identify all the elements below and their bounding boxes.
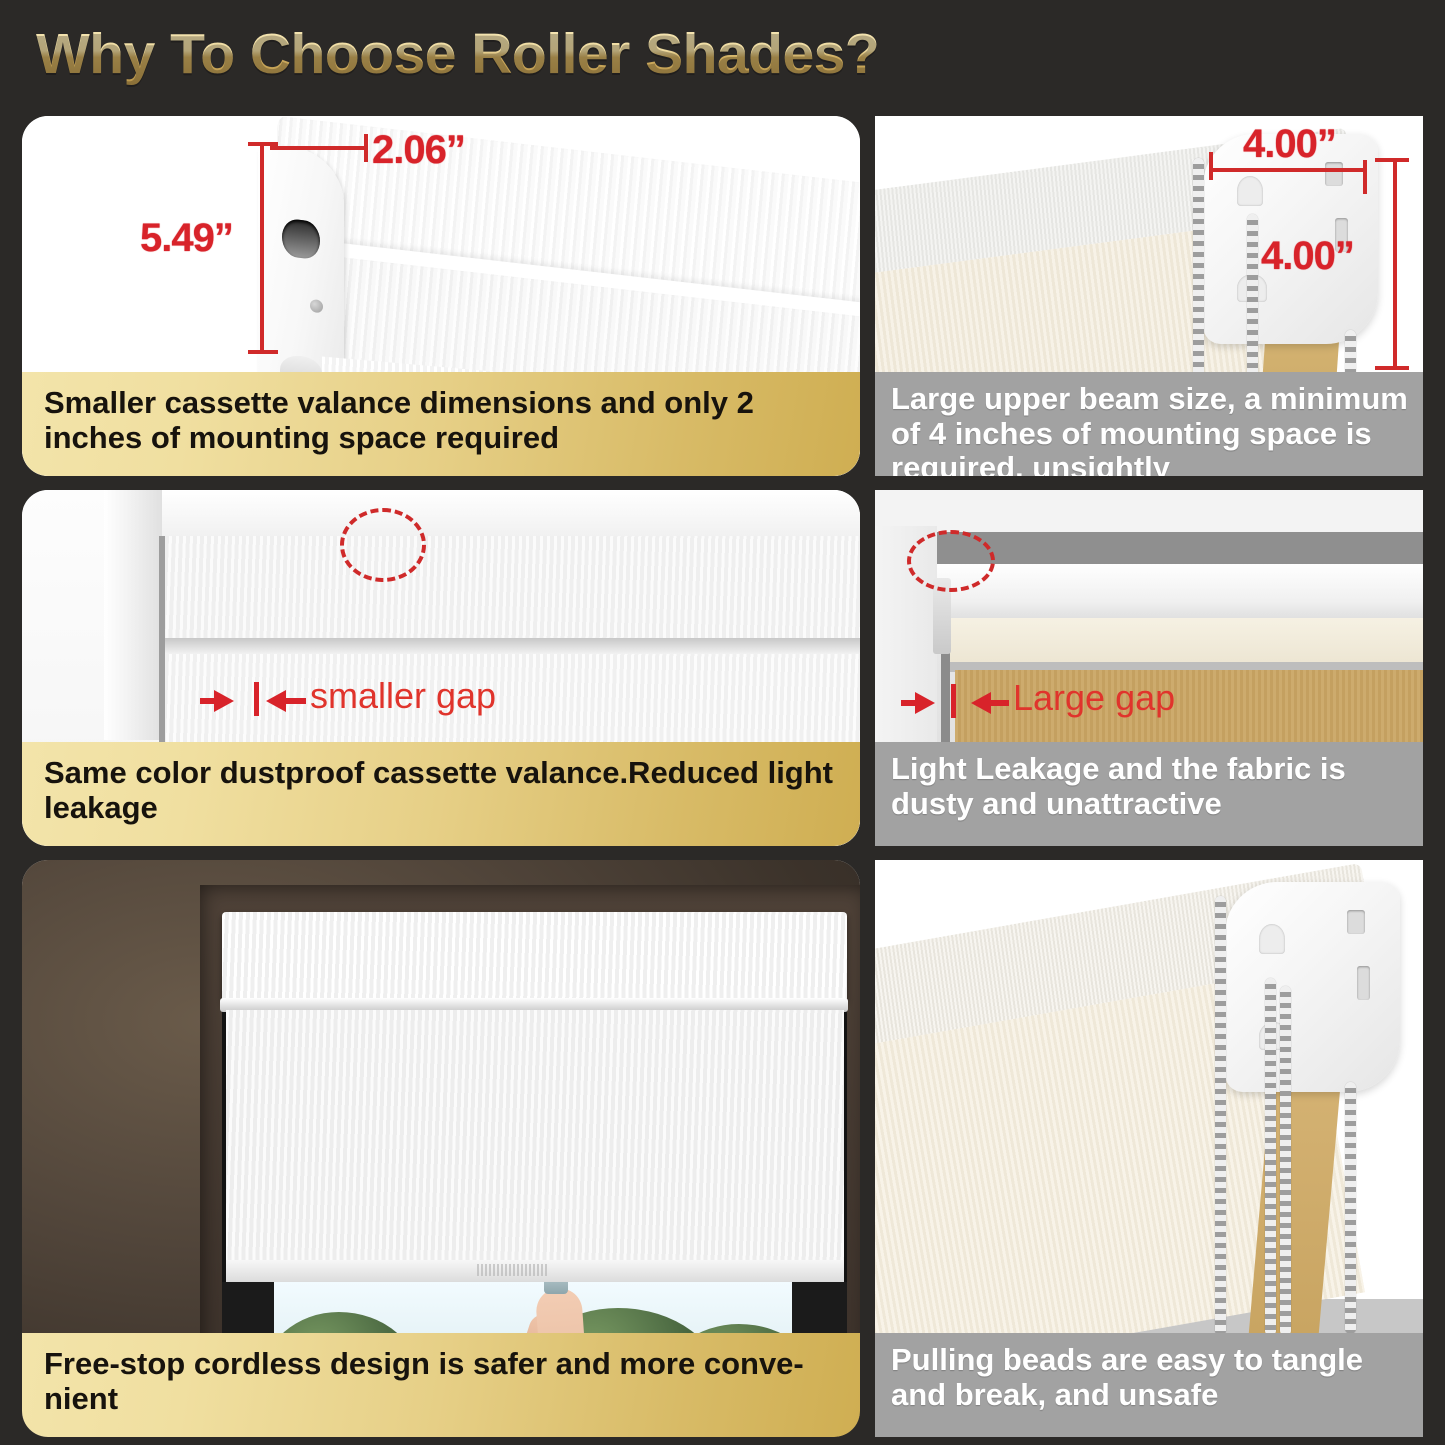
height-dimension-line [260, 142, 264, 354]
roller-bracket-graphic [1225, 882, 1400, 1092]
gap-tick [951, 684, 956, 718]
width-dimension-tick-right [364, 134, 368, 162]
panel-top-right-caption: Large upper beam size, a minimum of 4 in… [875, 372, 1423, 476]
header-bar: Why To Choose Roller Shades? [0, 0, 1445, 108]
gap-arrow-left-icon [266, 690, 286, 712]
height-dimension-label: 5.49” [140, 216, 233, 261]
bead-chain-1 [1215, 896, 1226, 1336]
panel-middle-left: smaller gap Same color dustproof cassett… [22, 490, 860, 846]
gap-arrow-left-icon [971, 692, 991, 714]
panel-middle-left-caption: Same color dustproof cassette valance.Re… [22, 742, 860, 846]
roller-fabric-graphic [226, 1010, 844, 1272]
bead-chain-4 [1345, 1082, 1356, 1334]
comparison-grid: 5.49” 2.06” Smaller cassette valance dim… [0, 108, 1445, 1445]
panel-middle-right: Large gap Light Leakage and the fabric i… [875, 490, 1423, 846]
gap-tick [254, 682, 259, 716]
beam-width-line [1211, 168, 1367, 172]
panel-bottom-right: Pulling beads are easy to tangle and bre… [875, 860, 1423, 1437]
beam-width-tick-left [1209, 152, 1213, 180]
highlight-circle-icon [340, 508, 426, 582]
panel-bottom-right-caption: Pulling beads are easy to tangle and bre… [875, 1333, 1423, 1437]
height-dimension-tick-bottom [248, 350, 278, 354]
panel-top-left: 5.49” 2.06” Smaller cassette valance dim… [22, 116, 860, 476]
page-title: Why To Choose Roller Shades? [36, 21, 879, 87]
beam-height-tick-top [1375, 158, 1409, 162]
panel-bottom-left-caption: Free-stop cordless design is safer and m… [22, 1333, 860, 1437]
pull-handle-graphic [544, 1282, 568, 1294]
beam-width-label: 4.00” [1243, 122, 1336, 167]
gap-arrow-right-stem [200, 698, 218, 704]
beam-height-tick-bottom [1375, 366, 1409, 370]
bead-chain-2 [1265, 978, 1276, 1336]
width-dimension-label: 2.06” [372, 128, 465, 173]
beam-width-tick-right [1363, 160, 1367, 194]
gap-arrow-left-stem [989, 700, 1009, 706]
bead-chain-3 [1280, 986, 1291, 1336]
panel-top-left-caption: Smaller cassette valance dimensions and … [22, 372, 860, 476]
gap-arrow-right-stem [901, 700, 919, 706]
panel-middle-right-caption: Light Leakage and the fabric is dusty an… [875, 742, 1423, 846]
beam-height-line [1393, 158, 1397, 370]
gap-arrow-left-stem [284, 698, 306, 704]
smaller-gap-label: smaller gap [310, 675, 496, 717]
beam-height-label: 4.00” [1261, 234, 1354, 279]
highlight-circle-icon [907, 530, 995, 592]
width-dimension-line [270, 146, 366, 150]
panel-bottom-left: Free-stop cordless design is safer and m… [22, 860, 860, 1437]
cassette-valance-graphic [222, 912, 847, 1002]
large-gap-label: Large gap [1013, 677, 1175, 719]
panel-top-right: 4.00” 4.00” Large upper beam size, a min… [875, 116, 1423, 476]
